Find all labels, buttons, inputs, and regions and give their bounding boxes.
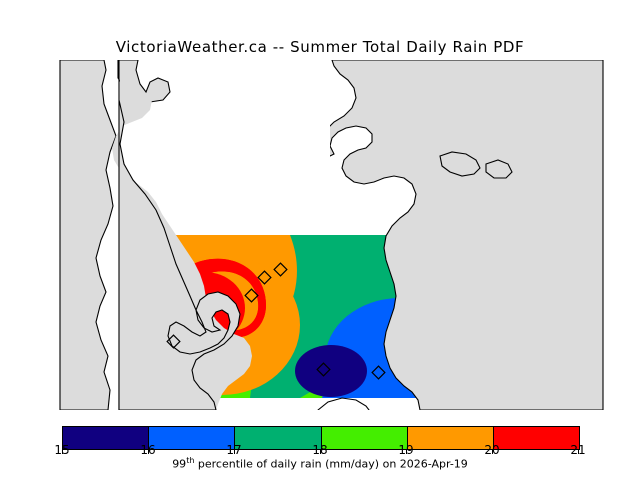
- colorbar-tick-label: 20: [484, 443, 499, 457]
- colorbar-tick-label: 18: [312, 443, 327, 457]
- page-title: VictoriaWeather.ca -- Summer Total Daily…: [0, 38, 640, 56]
- colorbar-caption: 99th percentile of daily rain (mm/day) o…: [0, 456, 640, 471]
- colorbar-tick-label: 17: [226, 443, 241, 457]
- caption-suffix: percentile of daily rain (mm/day) on 202…: [194, 458, 467, 471]
- contour-band-15-16-core: [295, 345, 367, 397]
- map-plot-area: [0, 60, 640, 410]
- map-svg: [0, 60, 640, 410]
- caption-prefix: 99: [172, 458, 186, 471]
- colorbar-tick-label: 16: [140, 443, 155, 457]
- colorbar-tick-label: 15: [54, 443, 69, 457]
- colorbar-tick-label: 21: [570, 443, 585, 457]
- weather-map-page: VictoriaWeather.ca -- Summer Total Daily…: [0, 0, 640, 480]
- colorbar-tick-label: 19: [398, 443, 413, 457]
